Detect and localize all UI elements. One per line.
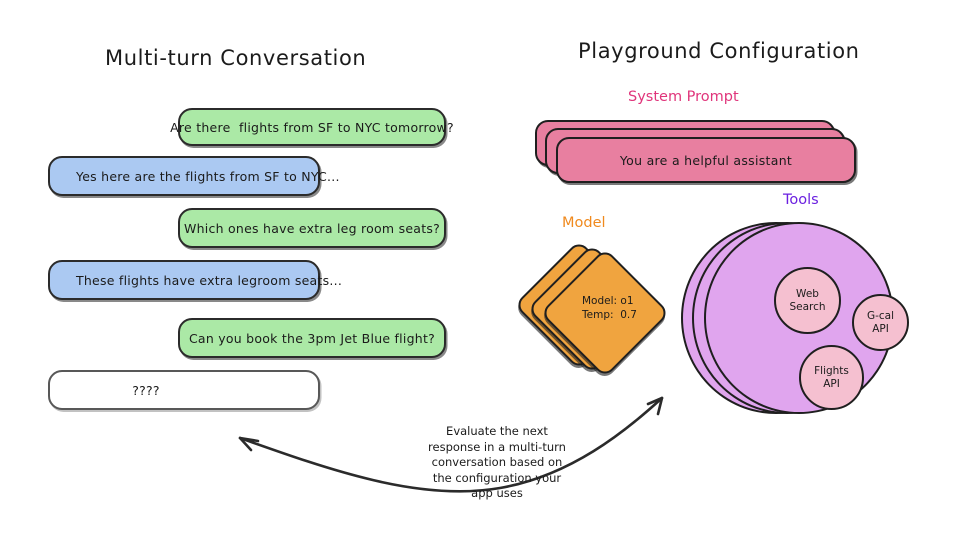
tools-label: Tools [783,192,819,208]
tool-item-gcal-api: G-cal API [852,294,909,351]
right-section-title: Playground Configuration [578,39,860,63]
diagram-canvas: Multi-turn Conversation Playground Confi… [0,0,963,552]
chat-bubble-text: ???? [132,383,160,398]
tool-item-line-1: Web [796,288,819,301]
model-label: Model [562,215,606,231]
tool-item-line-2: Search [789,301,825,314]
tool-item-line-1: Flights [814,365,849,378]
connector-annotation-text: Evaluate the next response in a multi-tu… [424,424,570,502]
system-prompt-text: You are a helpful assistant [620,153,792,168]
chat-bubble-text: These flights have extra legroom seats..… [76,273,342,288]
tool-item-web-search: Web Search [774,267,841,334]
arrowhead-right [648,398,662,414]
system-prompt-label: System Prompt [628,89,739,105]
chat-bubble-user-2: Which ones have extra leg room seats? [178,208,446,248]
chat-bubble-pending-response: ???? [48,370,320,410]
chat-bubble-text: Which ones have extra leg room seats? [184,221,440,236]
tool-item-line-2: API [823,378,840,391]
chat-bubble-text: Are there flights from SF to NYC tomorro… [170,120,454,135]
system-prompt-card-front: You are a helpful assistant [556,137,856,183]
model-config-line-2: Temp: 0.7 [582,308,637,322]
arrowhead-left [240,438,258,450]
tool-item-flights-api: Flights API [799,345,864,410]
left-section-title: Multi-turn Conversation [105,46,366,70]
chat-bubble-text: Can you book the 3pm Jet Blue flight? [189,331,435,346]
tool-item-line-1: G-cal [867,310,894,323]
chat-bubble-user-1: Are there flights from SF to NYC tomorro… [178,108,446,146]
chat-bubble-user-3: Can you book the 3pm Jet Blue flight? [178,318,446,358]
chat-bubble-assistant-2: These flights have extra legroom seats..… [48,260,320,300]
chat-bubble-text: Yes here are the flights from SF to NYC.… [76,169,340,184]
model-config-line-1: Model: o1 [582,294,634,308]
tool-item-line-2: API [872,323,889,336]
chat-bubble-assistant-1: Yes here are the flights from SF to NYC.… [48,156,320,196]
